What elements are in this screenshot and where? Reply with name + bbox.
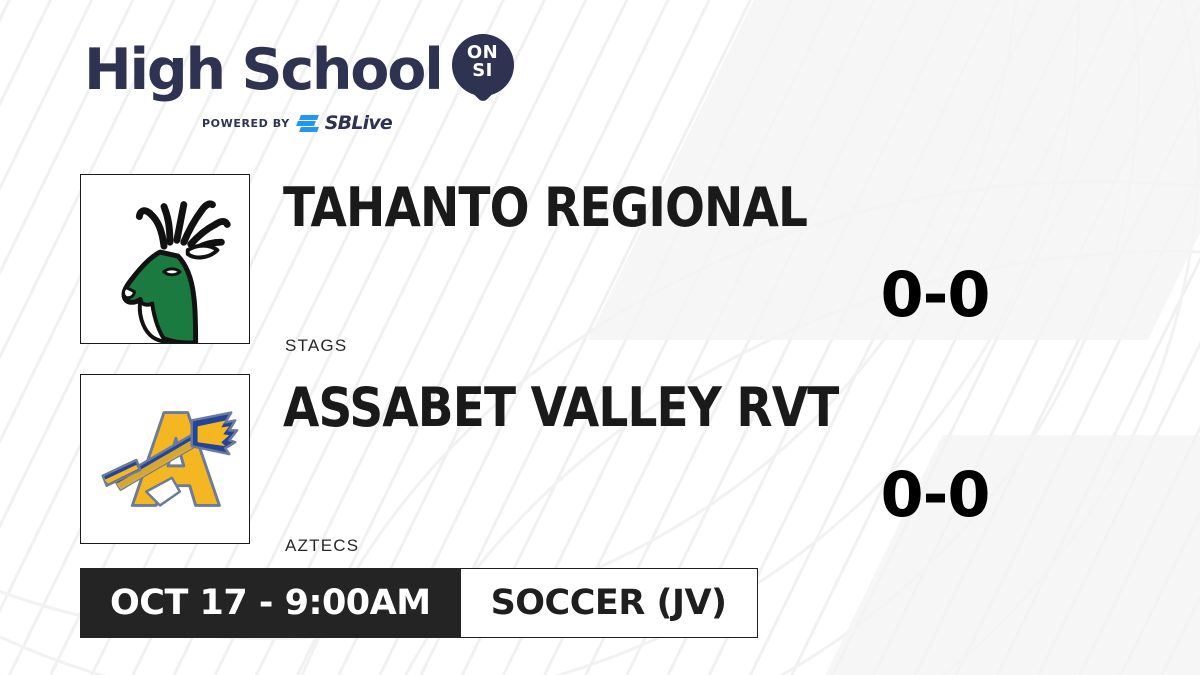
stag-head-logo: [81, 175, 249, 343]
team-mascot-home: STAGS: [285, 336, 347, 356]
team-logo-box-away: [80, 374, 250, 544]
scoreboard-graphic: High School ON SI POWERED BY SBLive: [0, 0, 1200, 675]
team-name-away: ASSABET VALLEY RVT: [283, 376, 838, 439]
sblive-wordmark: SBLive: [325, 112, 392, 134]
team-mascot-away: AZTECS: [285, 536, 359, 556]
pin-badge-line-2: SI: [452, 62, 514, 80]
onsi-map-pin-icon: ON SI: [452, 34, 514, 106]
aztec-arrow-a-logo: [81, 375, 249, 543]
pin-badge-text: ON SI: [452, 44, 514, 80]
page-title: High School: [84, 43, 442, 97]
score-home: 0-0: [855, 258, 1015, 331]
sblive-s-icon: [297, 115, 318, 132]
brand-title-row: High School ON SI: [84, 34, 514, 106]
team-logo-box-home: [80, 174, 250, 344]
game-datetime: OCT 17 - 9:00AM: [80, 568, 461, 638]
brand-header: High School ON SI POWERED BY SBLive: [84, 34, 514, 134]
powered-by-label: POWERED BY: [202, 117, 290, 130]
team-name-home: TAHANTO REGIONAL: [283, 176, 807, 239]
game-info-bar: OCT 17 - 9:00AM SOCCER (JV): [80, 568, 758, 638]
score-away: 0-0: [855, 458, 1015, 531]
powered-by-row: POWERED BY SBLive: [202, 112, 514, 134]
game-sport-level: SOCCER (JV): [461, 568, 758, 638]
